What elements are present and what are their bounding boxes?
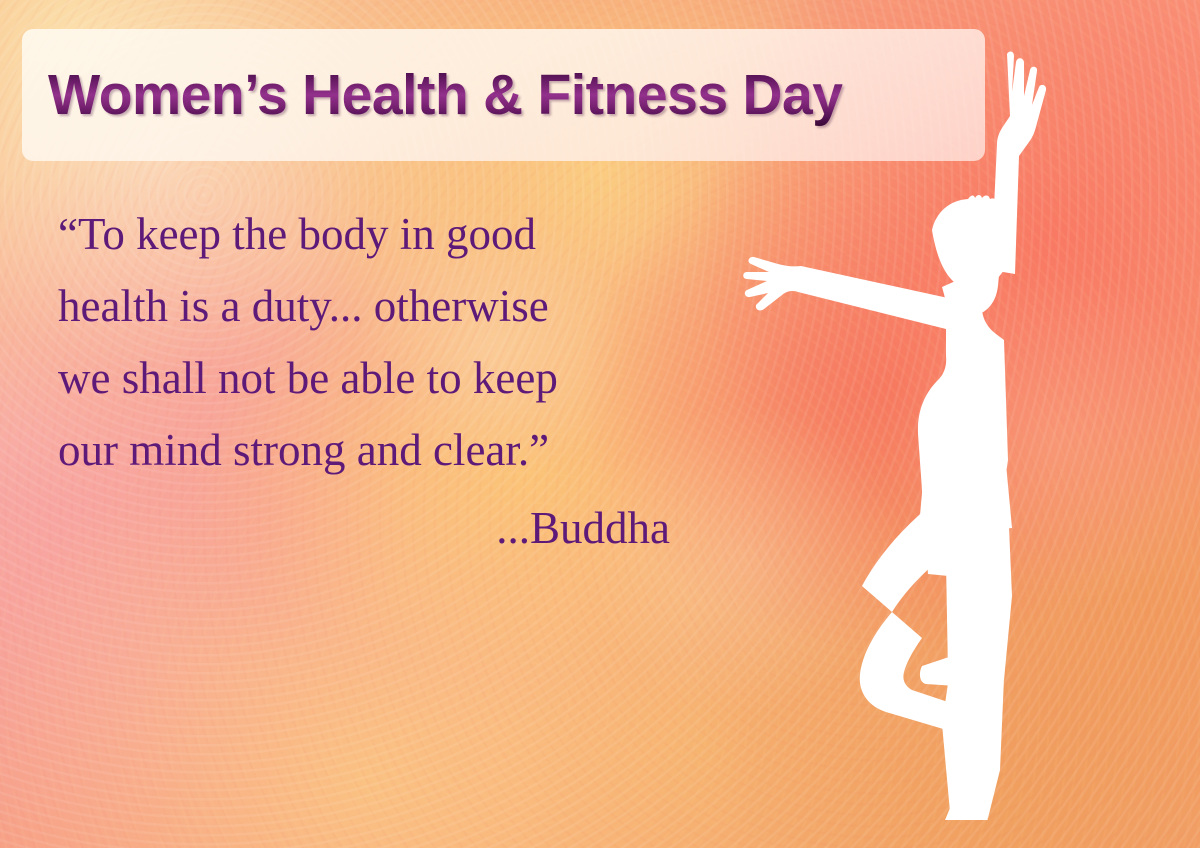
quote-line-4: our mind strong and clear.” — [58, 414, 678, 486]
quote-block: “To keep the body in good health is a du… — [58, 198, 678, 564]
poster-canvas: Women’s Health & Fitness Day “To keep th… — [0, 0, 1200, 848]
quote-line-2: health is a duty... otherwise — [58, 270, 678, 342]
quote-line-3: we shall not be able to keep — [58, 342, 678, 414]
quote-attribution: ...Buddha — [58, 492, 678, 564]
dancer-silhouette-icon — [660, 30, 1080, 820]
quote-line-1: “To keep the body in good — [58, 198, 678, 270]
